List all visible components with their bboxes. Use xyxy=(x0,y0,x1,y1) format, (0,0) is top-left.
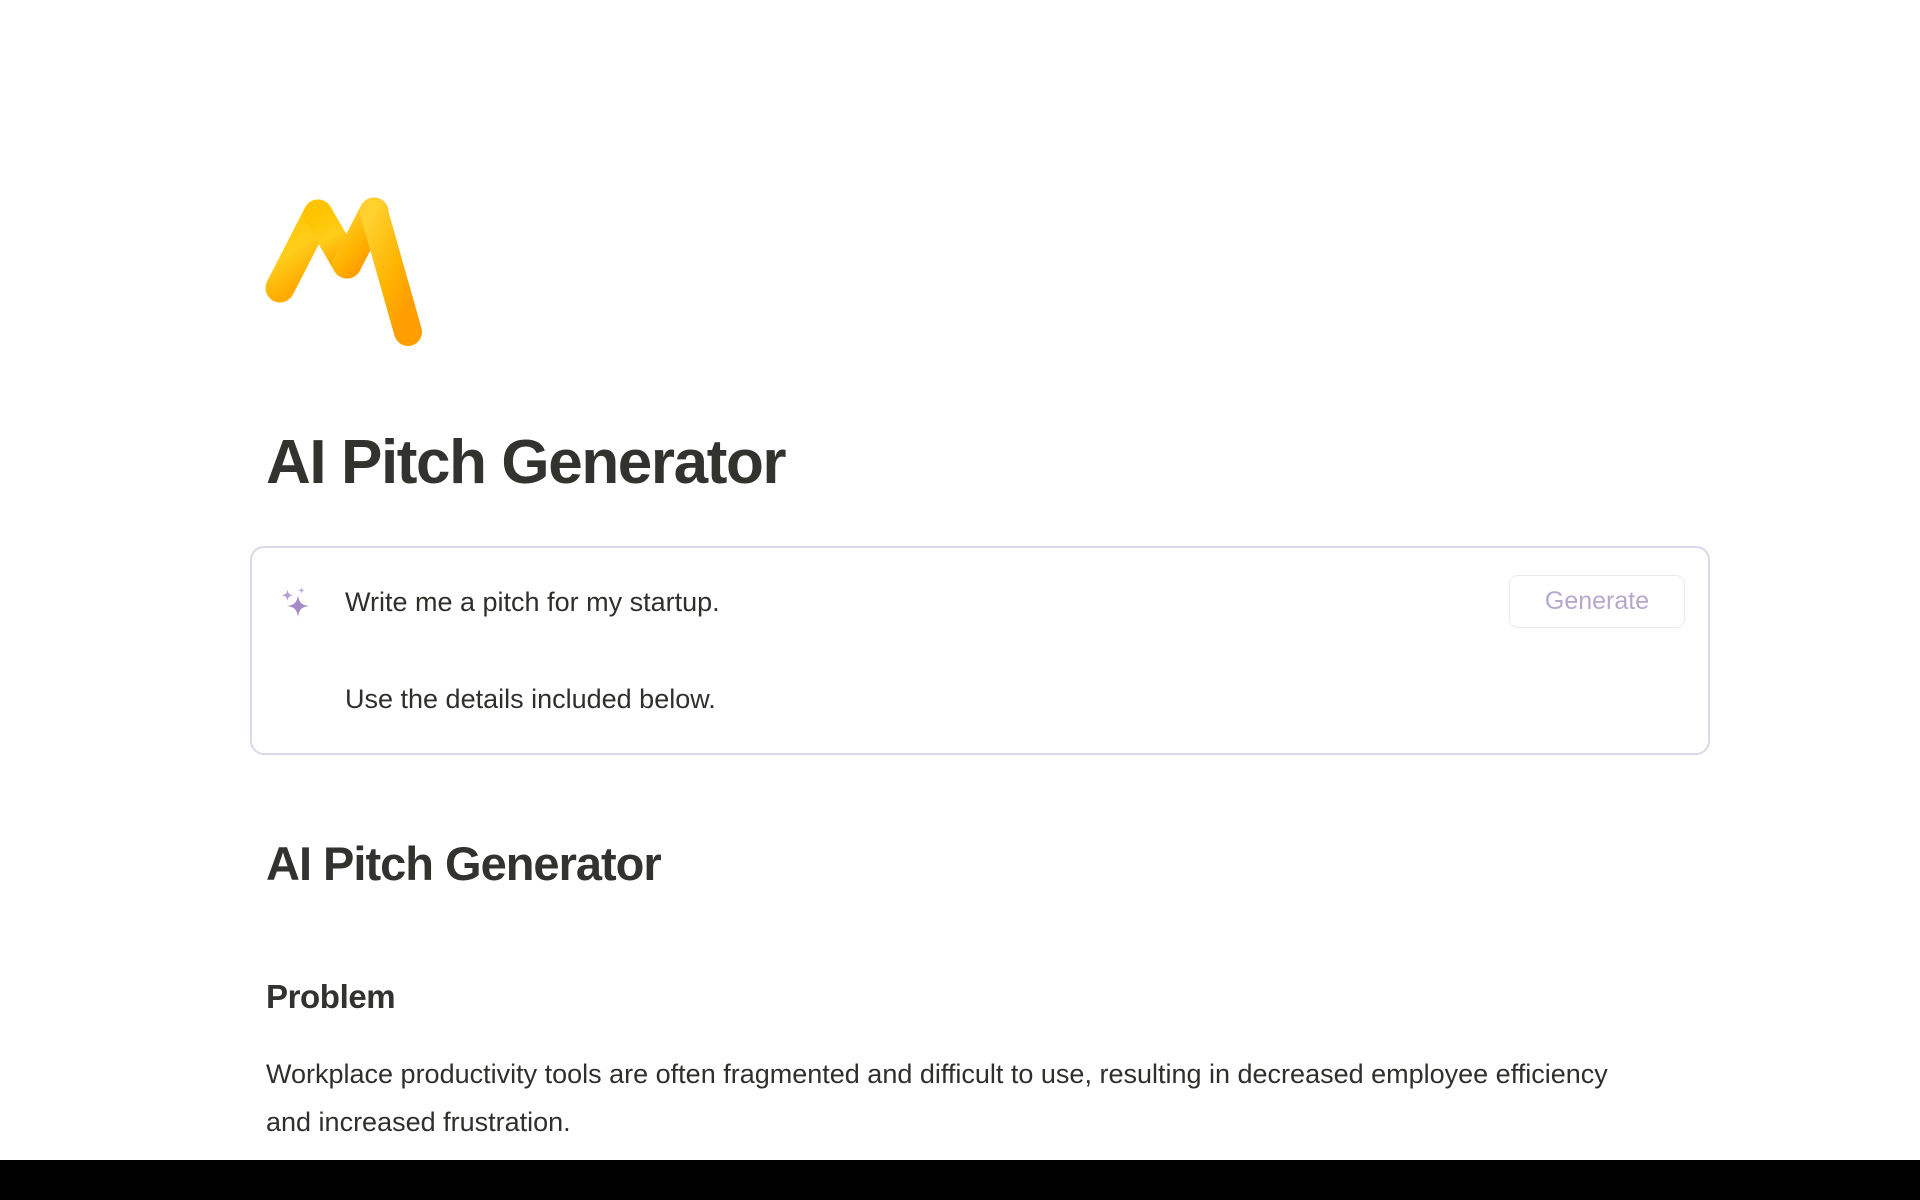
prompt-text-line-2[interactable]: Use the details included below. xyxy=(345,679,716,719)
sparkle-icon xyxy=(276,584,318,626)
bottom-letterbox-bar xyxy=(0,1160,1920,1200)
generate-button[interactable]: Generate xyxy=(1509,575,1685,628)
result-section-body-problem: Workplace productivity tools are often f… xyxy=(266,1050,1646,1146)
app-canvas: AI Pitch Generator Write me a pitch for … xyxy=(0,0,1920,1200)
monday-m-logo-icon xyxy=(262,192,432,347)
prompt-text-line-1[interactable]: Write me a pitch for my startup. xyxy=(345,582,720,622)
result-section-heading-problem: Problem xyxy=(266,980,395,1013)
result-title: AI Pitch Generator xyxy=(266,840,661,887)
prompt-card[interactable]: Write me a pitch for my startup. Use the… xyxy=(250,546,1710,755)
page-title: AI Pitch Generator xyxy=(266,432,785,494)
